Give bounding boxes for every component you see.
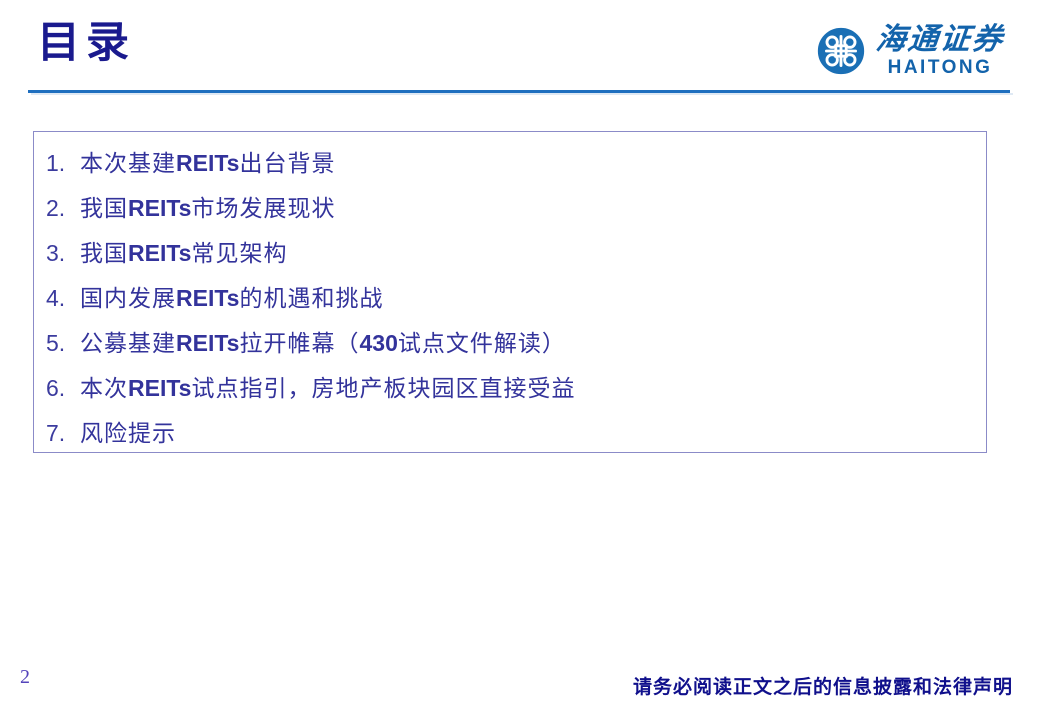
contents-item-5[interactable]: 5.公募基建REITs拉开帷幕（430试点文件解读） <box>34 324 986 369</box>
logo-chinese-name: 海通证券 <box>874 25 1005 55</box>
contents-item-label: 国内发展REITs的机遇和挑战 <box>80 279 383 313</box>
contents-item-number: 4. <box>46 285 80 312</box>
logo-wordmark: 海通证券 HAITONG <box>876 25 1004 77</box>
haitong-circular-emblem-icon <box>815 25 867 77</box>
contents-item-number: 3. <box>46 240 80 267</box>
contents-item-6[interactable]: 6.本次REITs试点指引，房地产板块园区直接受益 <box>34 369 986 414</box>
contents-item-1[interactable]: 1.本次基建REITs出台背景 <box>34 144 986 189</box>
contents-item-number: 5. <box>46 330 80 357</box>
contents-list: 1.本次基建REITs出台背景2.我国REITs市场发展现状3.我国REITs常… <box>34 144 986 459</box>
contents-item-number: 2. <box>46 195 80 222</box>
contents-item-2[interactable]: 2.我国REITs市场发展现状 <box>34 189 986 234</box>
contents-item-number: 6. <box>46 375 80 402</box>
footer-disclaimer: 请务必阅读正文之后的信息披露和法律声明 <box>633 672 1013 699</box>
contents-item-label: 我国REITs常见架构 <box>80 234 287 268</box>
contents-item-7[interactable]: 7.风险提示 <box>34 414 986 459</box>
slide: 目录 海通证券 HAITONG 1.本次基建REITs出台背景2.我国REITs… <box>0 0 1039 718</box>
title-divider-shadow <box>31 93 1013 95</box>
contents-item-label: 本次基建REITs出台背景 <box>80 144 335 178</box>
logo-english-name: HAITONG <box>888 58 993 77</box>
contents-item-label: 公募基建REITs拉开帷幕（430试点文件解读） <box>80 324 566 358</box>
contents-item-number: 1. <box>46 150 80 177</box>
contents-item-number: 7. <box>46 420 80 447</box>
contents-item-4[interactable]: 4.国内发展REITs的机遇和挑战 <box>34 279 986 324</box>
contents-item-label: 风险提示 <box>80 414 176 448</box>
haitong-logo: 海通证券 HAITONG <box>815 22 1015 80</box>
contents-box: 1.本次基建REITs出台背景2.我国REITs市场发展现状3.我国REITs常… <box>33 131 987 453</box>
contents-item-3[interactable]: 3.我国REITs常见架构 <box>34 234 986 279</box>
page-title: 目录 <box>37 20 135 67</box>
page-number: 2 <box>20 666 30 689</box>
contents-item-label: 我国REITs市场发展现状 <box>80 189 335 223</box>
contents-item-label: 本次REITs试点指引，房地产板块园区直接受益 <box>80 369 575 403</box>
